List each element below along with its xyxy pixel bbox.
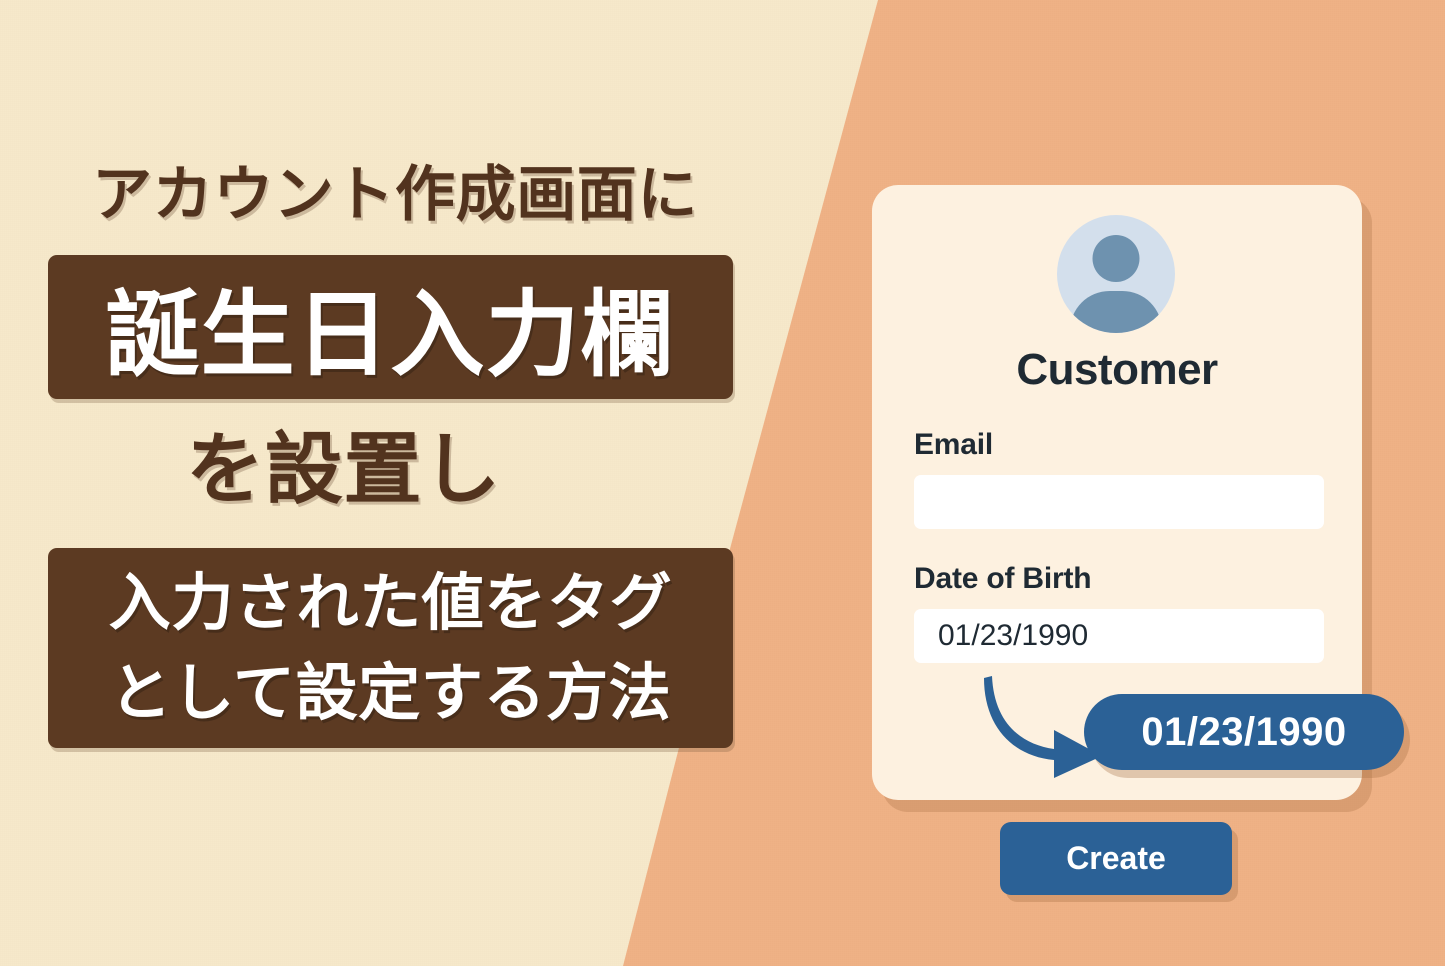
avatar-head-shape xyxy=(1093,235,1140,282)
date-of-birth-tag[interactable]: 01/23/1990 xyxy=(1084,694,1404,770)
avatar-body-shape xyxy=(1070,291,1162,333)
create-button[interactable]: Create xyxy=(1000,822,1232,895)
headline-group: アカウント作成画面に 誕生日入力欄 を設置し 入力された値をタグ として設定する… xyxy=(0,0,790,966)
headline-highlight-2-line-1: 入力された値をタグ xyxy=(109,559,673,647)
date-of-birth-tag-label: 01/23/1990 xyxy=(1141,710,1346,755)
customer-form-card: Customer Email Date of Birth 01/23/1990 … xyxy=(872,185,1362,800)
headline-line-3: を設置し xyxy=(186,424,501,516)
poster-canvas: アカウント作成画面に 誕生日入力欄 を設置し 入力された値をタグ として設定する… xyxy=(0,0,1445,966)
headline-highlight-1-text: 誕生日入力欄 xyxy=(106,259,676,395)
date-of-birth-input[interactable]: 01/23/1990 xyxy=(914,609,1324,663)
headline-highlight-1: 誕生日入力欄 xyxy=(48,255,733,399)
headline-highlight-2-line-2: として設定する方法 xyxy=(110,649,672,737)
email-field-label: Email xyxy=(914,428,993,462)
card-title: Customer xyxy=(872,345,1362,395)
headline-highlight-2: 入力された値をタグ として設定する方法 xyxy=(48,548,733,748)
headline-line-1: アカウント作成画面に xyxy=(92,160,698,230)
email-input[interactable] xyxy=(914,475,1324,529)
user-avatar-icon xyxy=(1057,215,1175,333)
date-of-birth-field-label: Date of Birth xyxy=(914,562,1091,596)
